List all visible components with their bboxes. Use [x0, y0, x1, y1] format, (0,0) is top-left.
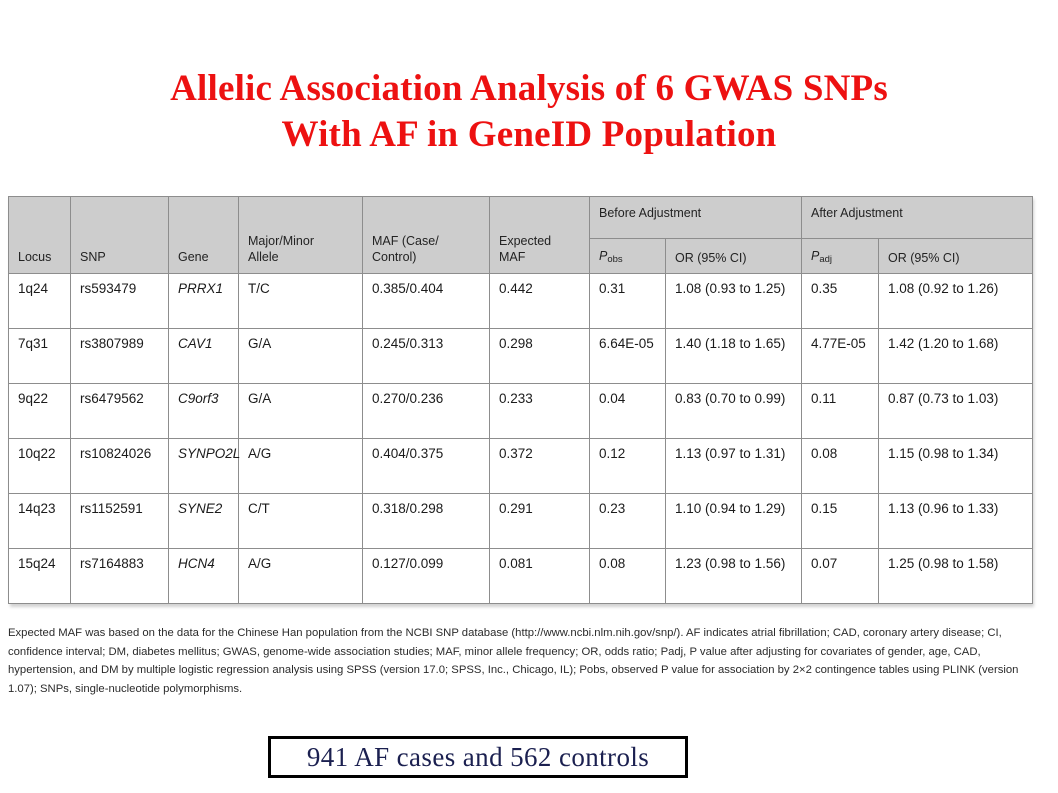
cell-allele: A/G: [239, 439, 363, 494]
cell-locus: 10q22: [9, 439, 71, 494]
cell-expected-maf: 0.291: [490, 494, 590, 549]
cell-or-before: 0.83 (0.70 to 0.99): [666, 384, 802, 439]
group-header-after-adjustment: After Adjustment: [802, 197, 1033, 239]
cell-maf: 0.270/0.236: [363, 384, 490, 439]
cell-or-after: 0.87 (0.73 to 1.03): [879, 384, 1033, 439]
column-header-p-obs: Pobs: [590, 239, 666, 274]
column-header-allele: Major/Minor Allele: [239, 197, 363, 274]
cell-or-before: 1.10 (0.94 to 1.29): [666, 494, 802, 549]
cell-expected-maf: 0.372: [490, 439, 590, 494]
cell-or-after: 1.08 (0.92 to 1.26): [879, 274, 1033, 329]
group-header-before-adjustment: Before Adjustment: [590, 197, 802, 239]
cell-gene: SYNE2: [169, 494, 239, 549]
column-header-maf-line-1: MAF (Case/: [372, 233, 481, 249]
cell-locus: 14q23: [9, 494, 71, 549]
column-header-allele-line-1: Major/Minor: [248, 233, 354, 249]
cell-p-adj: 0.15: [802, 494, 879, 549]
column-header-snp: SNP: [71, 197, 169, 274]
column-header-p-adj: Padj: [802, 239, 879, 274]
column-header-gene: Gene: [169, 197, 239, 274]
cell-expected-maf: 0.081: [490, 549, 590, 604]
cell-snp: rs6479562: [71, 384, 169, 439]
cell-snp: rs593479: [71, 274, 169, 329]
cell-p-adj: 0.07: [802, 549, 879, 604]
cell-locus: 7q31: [9, 329, 71, 384]
cell-snp: rs10824026: [71, 439, 169, 494]
page-title: Allelic Association Analysis of 6 GWAS S…: [0, 66, 1058, 158]
cell-locus: 9q22: [9, 384, 71, 439]
column-header-or-after: OR (95% CI): [879, 239, 1033, 274]
cell-maf: 0.385/0.404: [363, 274, 490, 329]
cell-locus: 15q24: [9, 549, 71, 604]
cell-maf: 0.404/0.375: [363, 439, 490, 494]
cell-expected-maf: 0.298: [490, 329, 590, 384]
column-header-or-before: OR (95% CI): [666, 239, 802, 274]
cell-p-obs: 0.04: [590, 384, 666, 439]
cell-allele: A/G: [239, 549, 363, 604]
cell-gene: CAV1: [169, 329, 239, 384]
cell-p-adj: 0.35: [802, 274, 879, 329]
table-header: Locus SNP Gene Major/Minor Allele MAF (C…: [9, 197, 1033, 274]
table-row: 10q22 rs10824026 SYNPO2L A/G 0.404/0.375…: [9, 439, 1033, 494]
column-header-expected-maf-line-2: MAF: [499, 249, 581, 265]
p-adj-subscript: adj: [819, 254, 832, 265]
table-row: 1q24 rs593479 PRRX1 T/C 0.385/0.404 0.44…: [9, 274, 1033, 329]
cell-p-obs: 0.23: [590, 494, 666, 549]
table-body: 1q24 rs593479 PRRX1 T/C 0.385/0.404 0.44…: [9, 274, 1033, 604]
sample-size-caption-text: 941 AF cases and 562 controls: [307, 742, 649, 773]
cell-locus: 1q24: [9, 274, 71, 329]
results-table-container: Locus SNP Gene Major/Minor Allele MAF (C…: [8, 196, 1032, 604]
cell-or-before: 1.23 (0.98 to 1.56): [666, 549, 802, 604]
cell-or-before: 1.13 (0.97 to 1.31): [666, 439, 802, 494]
p-obs-subscript: obs: [607, 254, 622, 265]
cell-expected-maf: 0.233: [490, 384, 590, 439]
cell-snp: rs3807989: [71, 329, 169, 384]
page-title-line-1: Allelic Association Analysis of 6 GWAS S…: [0, 66, 1058, 112]
cell-snp: rs1152591: [71, 494, 169, 549]
cell-gene: C9orf3: [169, 384, 239, 439]
cell-p-adj: 0.11: [802, 384, 879, 439]
allelic-association-table: Locus SNP Gene Major/Minor Allele MAF (C…: [8, 196, 1033, 604]
cell-maf: 0.127/0.099: [363, 549, 490, 604]
cell-gene: PRRX1: [169, 274, 239, 329]
cell-allele: G/A: [239, 384, 363, 439]
cell-gene: HCN4: [169, 549, 239, 604]
column-header-expected-maf: Expected MAF: [490, 197, 590, 274]
cell-maf: 0.318/0.298: [363, 494, 490, 549]
cell-p-obs: 6.64E-05: [590, 329, 666, 384]
column-header-locus: Locus: [9, 197, 71, 274]
cell-p-adj: 0.08: [802, 439, 879, 494]
cell-or-before: 1.08 (0.93 to 1.25): [666, 274, 802, 329]
table-footnote: Expected MAF was based on the data for t…: [8, 624, 1048, 698]
cell-allele: C/T: [239, 494, 363, 549]
table-header-row-groups: Locus SNP Gene Major/Minor Allele MAF (C…: [9, 197, 1033, 239]
table-row: 7q31 rs3807989 CAV1 G/A 0.245/0.313 0.29…: [9, 329, 1033, 384]
cell-maf: 0.245/0.313: [363, 329, 490, 384]
column-header-maf-line-2: Control): [372, 249, 481, 265]
cell-p-obs: 0.12: [590, 439, 666, 494]
table-row: 15q24 rs7164883 HCN4 A/G 0.127/0.099 0.0…: [9, 549, 1033, 604]
cell-gene: SYNPO2L: [169, 439, 239, 494]
cell-expected-maf: 0.442: [490, 274, 590, 329]
column-header-expected-maf-line-1: Expected: [499, 233, 581, 249]
sample-size-caption-box: 941 AF cases and 562 controls: [268, 736, 688, 778]
cell-p-adj: 4.77E-05: [802, 329, 879, 384]
cell-p-obs: 0.31: [590, 274, 666, 329]
cell-or-after: 1.25 (0.98 to 1.58): [879, 549, 1033, 604]
cell-or-after: 1.15 (0.98 to 1.34): [879, 439, 1033, 494]
cell-allele: G/A: [239, 329, 363, 384]
cell-p-obs: 0.08: [590, 549, 666, 604]
table-row: 9q22 rs6479562 C9orf3 G/A 0.270/0.236 0.…: [9, 384, 1033, 439]
cell-snp: rs7164883: [71, 549, 169, 604]
cell-or-before: 1.40 (1.18 to 1.65): [666, 329, 802, 384]
table-row: 14q23 rs1152591 SYNE2 C/T 0.318/0.298 0.…: [9, 494, 1033, 549]
page-title-line-2: With AF in GeneID Population: [0, 112, 1058, 158]
cell-or-after: 1.42 (1.20 to 1.68): [879, 329, 1033, 384]
cell-or-after: 1.13 (0.96 to 1.33): [879, 494, 1033, 549]
cell-allele: T/C: [239, 274, 363, 329]
column-header-allele-line-2: Allele: [248, 249, 354, 265]
column-header-maf: MAF (Case/ Control): [363, 197, 490, 274]
